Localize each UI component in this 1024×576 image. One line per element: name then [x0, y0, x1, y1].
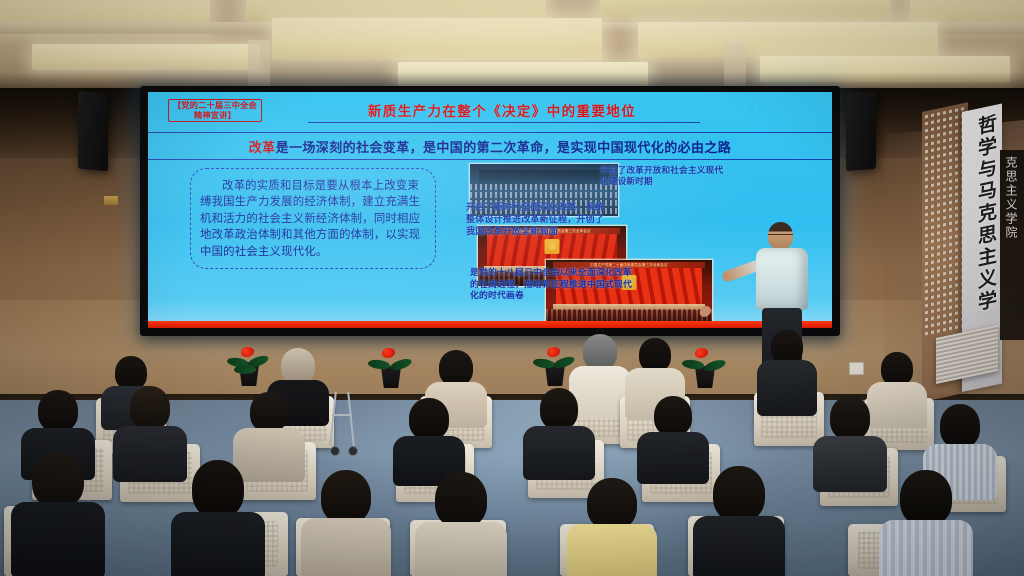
- slide-subtitle-rest: 是一场深刻的社会变革，是中国的第二次革命，是实现中国现代化的必由之路: [276, 141, 732, 156]
- slide-annotation-mid: 开启了新时代全面深化改革、系统整体设计推进改革新征程，开创了我国改革开放全新局面: [466, 202, 612, 238]
- plant-flower: [241, 347, 254, 357]
- potted-plant: [684, 340, 726, 388]
- wall-sign-text-secondary: 克思主义学院: [1003, 156, 1019, 240]
- slide-header: 【党的二十届三中全会 精神宣讲】 新质生产力在整个《决定》中的重要地位 · ·: [148, 96, 832, 132]
- person-head: [654, 396, 692, 436]
- audience-member: [522, 388, 596, 478]
- stroller-frame: [332, 414, 352, 416]
- person-head: [540, 388, 578, 430]
- slide-subtitle-emphasis: 改革: [249, 141, 276, 156]
- slide-bottom-bar: [148, 321, 832, 328]
- audience-member: [692, 466, 786, 576]
- party-emblem-icon: [545, 239, 560, 254]
- audience-member: [566, 478, 658, 576]
- person-torso: [879, 520, 973, 576]
- audience-member: [392, 398, 466, 482]
- plant-leaf: [389, 357, 413, 371]
- person-head: [38, 390, 78, 432]
- person-head: [409, 398, 449, 440]
- person-torso: [523, 426, 595, 480]
- person-torso: [693, 516, 785, 576]
- slide-header-marks: · ·: [744, 102, 824, 118]
- audience-member: [300, 470, 392, 576]
- person-torso: [171, 512, 265, 576]
- person-head: [587, 478, 637, 530]
- audience-member: [878, 470, 974, 576]
- person-head: [771, 330, 803, 364]
- slide-annotation-top: 开启了改革开放和社会主义现代化建设新时期: [600, 166, 730, 188]
- slide-title: 新质生产力在整个《决定》中的重要地位: [312, 100, 692, 120]
- person-head: [115, 356, 147, 390]
- plant-flower: [547, 347, 560, 357]
- audience-member: [170, 460, 266, 576]
- audience-member: [812, 396, 888, 488]
- slide-badge: 【党的二十届三中全会 精神宣讲】: [168, 99, 262, 122]
- person-head: [830, 396, 870, 440]
- light-switch[interactable]: [849, 362, 864, 375]
- audience-member: [414, 472, 508, 576]
- stroller: [330, 392, 356, 458]
- person-head: [130, 386, 170, 430]
- led-screen-bezel: 【党的二十届三中全会 精神宣讲】 新质生产力在整个《决定》中的重要地位 · · …: [140, 86, 840, 336]
- person-torso: [813, 436, 887, 492]
- potted-plant: [370, 340, 412, 388]
- wall-speaker-right: [846, 91, 876, 172]
- person-head: [321, 470, 371, 524]
- person-head: [32, 452, 84, 508]
- ceiling-light-panel: [600, 0, 890, 18]
- wall-speaker-left: [78, 91, 108, 172]
- ceiling-light-panel: [638, 22, 938, 58]
- audience-member: [756, 330, 818, 414]
- person-head: [900, 470, 952, 526]
- slide-quote-text: 改革的实质和目标是要从根本上改变束缚我国生产力发展的经济体制，建立充满生机和活力…: [200, 177, 426, 259]
- plant-leaf: [703, 359, 726, 373]
- stroller-wheel: [348, 446, 358, 456]
- stroller-frame: [347, 392, 355, 446]
- slide-quote-box: 改革的实质和目标是要从根本上改变束缚我国生产力发展的经济体制，建立充满生机和活力…: [190, 168, 436, 269]
- plant-flower: [695, 348, 708, 358]
- potted-plant: [228, 338, 270, 386]
- person-head: [639, 338, 671, 372]
- presentation-slide: 【党的二十届三中全会 精神宣讲】 新质生产力在整个《决定》中的重要地位 · · …: [148, 92, 832, 328]
- slide-subtitle: 改革是一场深刻的社会变革，是中国的第二次革命，是实现中国现代化的必由之路: [249, 137, 731, 156]
- slide-subtitle-band: 改革是一场深刻的社会变革，是中国的第二次革命，是实现中国现代化的必由之路: [148, 132, 832, 160]
- person-head: [250, 392, 288, 432]
- stroller-wheel: [330, 446, 340, 456]
- wall-sign-text: 哲学与马克思主义学: [967, 113, 997, 317]
- room: 【党的二十届三中全会 精神宣讲】 新质生产力在整个《决定》中的重要地位 · · …: [0, 0, 1024, 576]
- slide-title-underline: [308, 122, 700, 123]
- wall-plaque: [104, 196, 118, 205]
- audience-member: [10, 452, 106, 576]
- person-head: [583, 334, 617, 370]
- person-torso: [567, 524, 657, 576]
- person-head: [439, 350, 473, 386]
- stroller-frame: [329, 392, 337, 446]
- ceiling-light-panel: [272, 18, 602, 60]
- person-head: [435, 472, 487, 528]
- person-torso: [11, 502, 105, 576]
- plant-flower: [382, 348, 395, 358]
- glasses-icon: [768, 234, 793, 240]
- person-head: [192, 460, 244, 518]
- slide-annotation-bottom: 是党的十八届三中全会以来全面深化改革的壮阔进程，描绘新征程推进中国式现代化的时代…: [470, 268, 636, 303]
- person-head: [281, 348, 315, 384]
- person-head: [713, 466, 765, 522]
- lecture-hall-photo: 【党的二十届三中全会 精神宣讲】 新质生产力在整个《决定》中的重要地位 · · …: [0, 0, 1024, 576]
- person-torso: [415, 522, 507, 576]
- ceiling-light-panel: [32, 44, 260, 70]
- person-head: [940, 404, 980, 448]
- wall-sign-vertical-secondary: 克思主义学院: [1000, 150, 1024, 340]
- presenter-torso: [756, 248, 808, 310]
- person-torso: [757, 360, 817, 416]
- person-torso: [301, 518, 391, 576]
- person-head: [881, 352, 913, 386]
